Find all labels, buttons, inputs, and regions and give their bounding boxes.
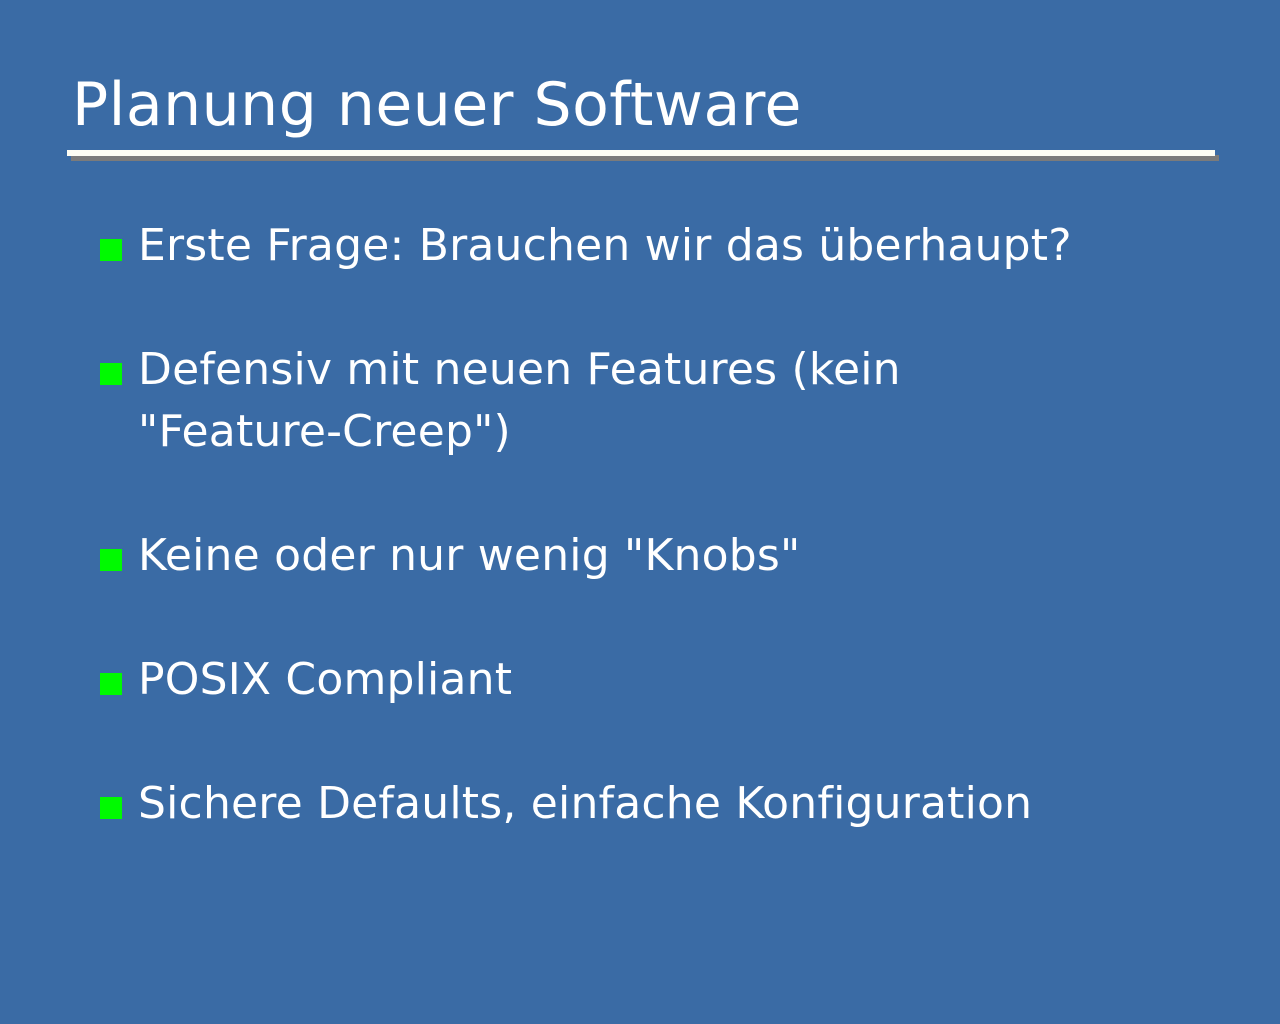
square-bullet-icon — [100, 797, 122, 819]
list-item: Defensiv mit neuen Features (kein "Featu… — [100, 339, 1220, 463]
square-bullet-icon — [100, 363, 122, 385]
title-divider-line — [67, 150, 1215, 156]
bullet-text: POSIX Compliant — [138, 649, 1098, 711]
list-item: POSIX Compliant — [100, 649, 1220, 711]
slide-body-bullet-list: Erste Frage: Brauchen wir das überhaupt?… — [100, 215, 1220, 835]
bullet-text: Erste Frage: Brauchen wir das überhaupt? — [138, 215, 1098, 277]
square-bullet-icon — [100, 673, 122, 695]
title-divider-rule — [67, 150, 1215, 156]
list-item: Erste Frage: Brauchen wir das überhaupt? — [100, 215, 1220, 277]
square-bullet-icon — [100, 239, 122, 261]
page-title: Planung neuer Software — [72, 68, 1222, 142]
list-item: Keine oder nur wenig "Knobs" — [100, 525, 1220, 587]
list-item: Sichere Defaults, einfache Konfiguration — [100, 773, 1220, 835]
presentation-slide: Planung neuer Software Erste Frage: Brau… — [0, 0, 1280, 1024]
bullet-text: Defensiv mit neuen Features (kein "Featu… — [138, 339, 958, 463]
bullet-text: Sichere Defaults, einfache Konfiguration — [138, 773, 1098, 835]
square-bullet-icon — [100, 549, 122, 571]
bullet-text: Keine oder nur wenig "Knobs" — [138, 525, 1098, 587]
